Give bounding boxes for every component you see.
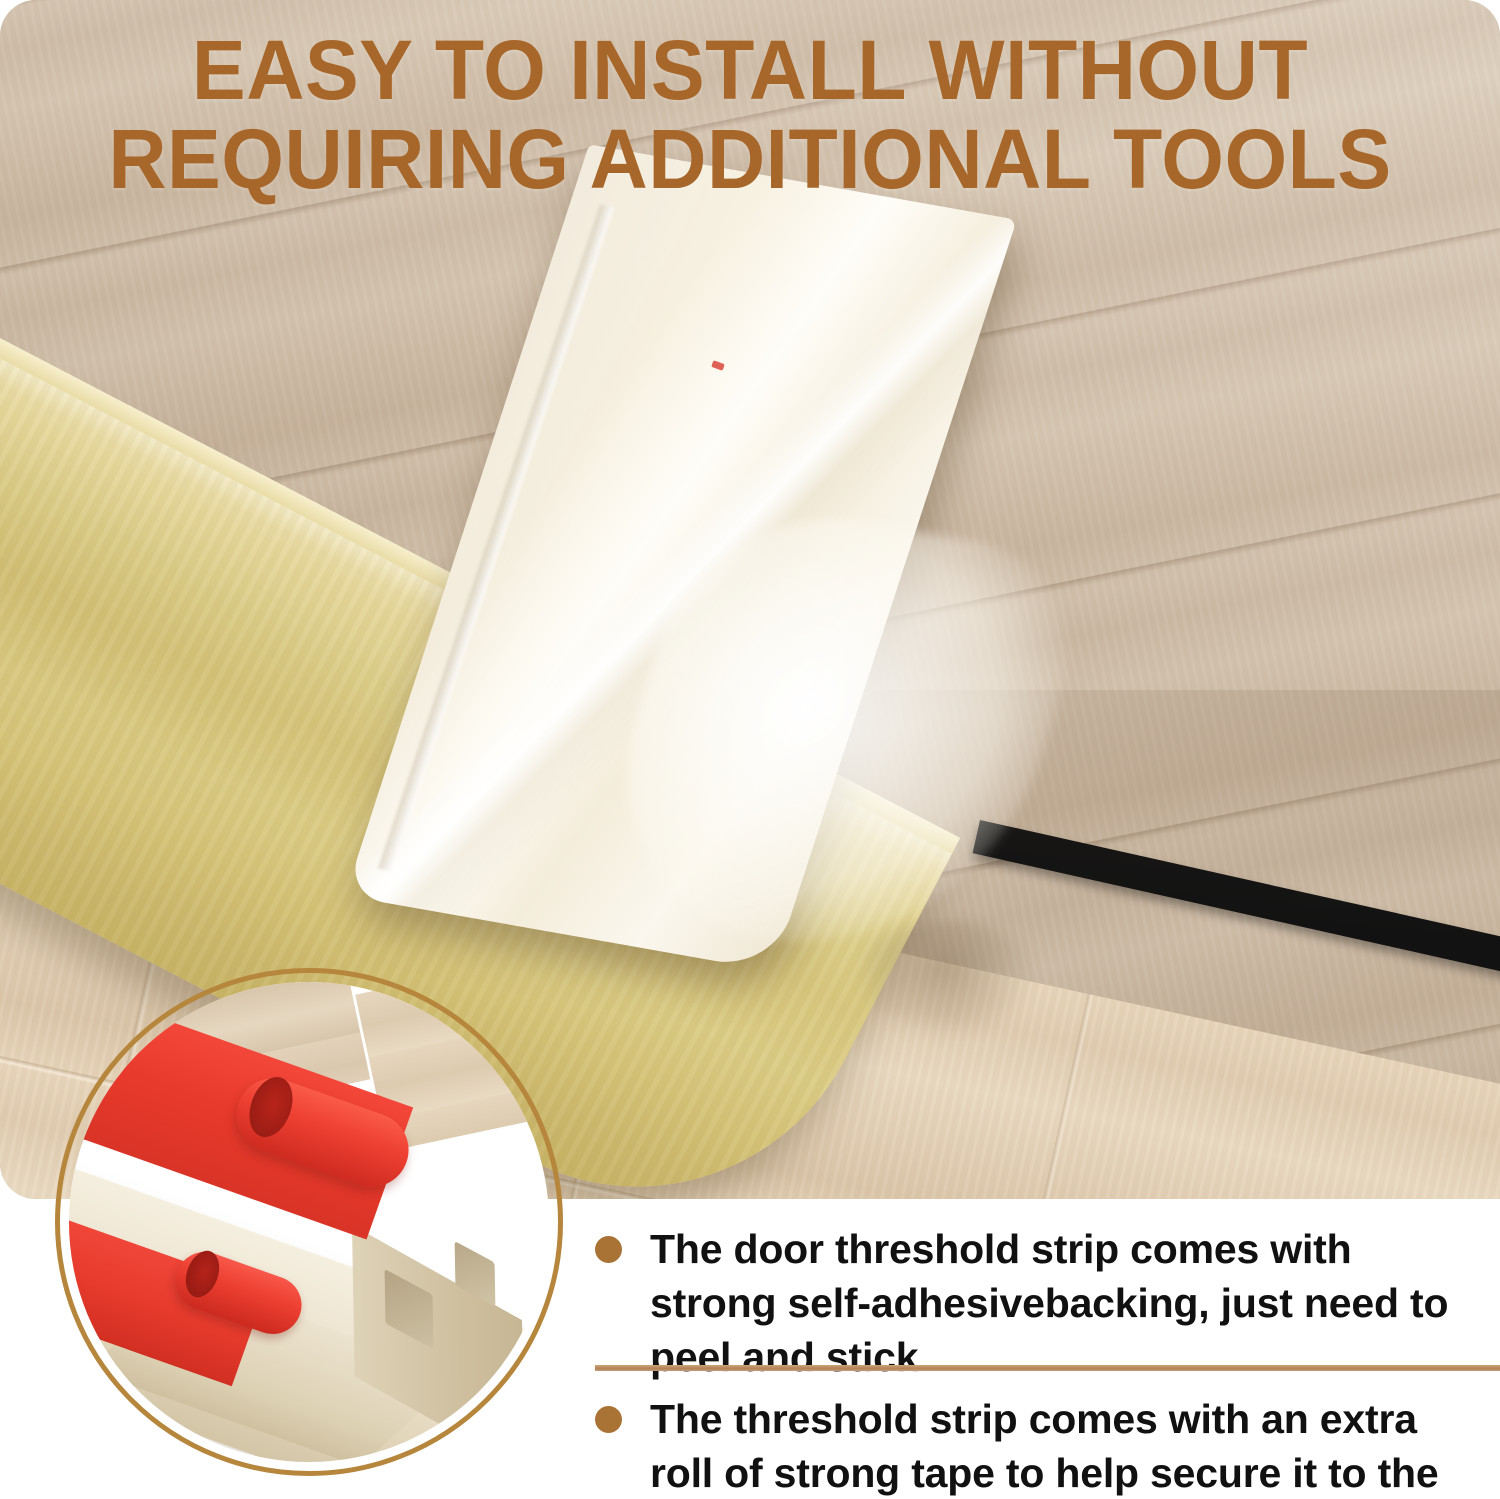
bullet-text: The door threshold strip comes with stro… (650, 1222, 1485, 1384)
bullet-dot-icon (595, 1406, 622, 1433)
bullet-row: The door threshold strip comes with stro… (595, 1222, 1485, 1384)
feature-bullet-1: The door threshold strip comes with stro… (595, 1222, 1485, 1384)
feature-bullet-2: The threshold strip comes with an extra … (595, 1392, 1485, 1499)
inset-gold-ring (55, 968, 563, 1476)
bullet-text: The threshold strip comes with an extra … (650, 1392, 1485, 1499)
bullet-divider (595, 1365, 1500, 1371)
product-feature-image: EASY TO INSTALL WITHOUT REQUIRING ADDITI… (0, 0, 1500, 1499)
headline: EASY TO INSTALL WITHOUT REQUIRING ADDITI… (30, 26, 1470, 204)
bullet-row: The threshold strip comes with an extra … (595, 1392, 1485, 1499)
bullet-dot-icon (595, 1236, 622, 1263)
liner-tip-shadow (855, 920, 1035, 1040)
closeup-inset (55, 968, 563, 1476)
